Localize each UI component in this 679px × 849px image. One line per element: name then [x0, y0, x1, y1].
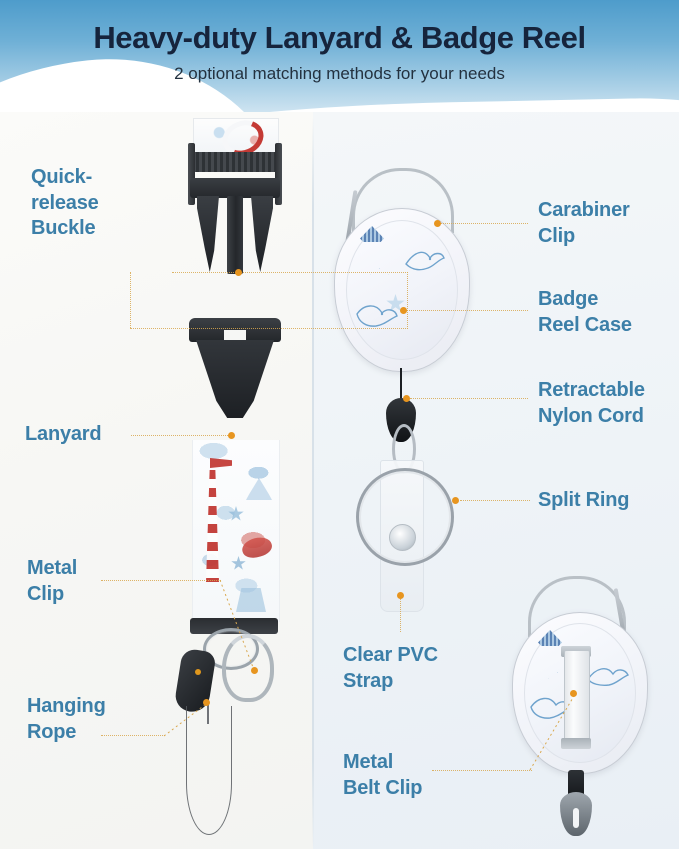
connector-carabiner-clip — [440, 223, 528, 224]
marker-dot-retractable-nylon-cord — [403, 395, 410, 402]
marker-dot-clear-pvc-strap — [397, 592, 404, 599]
label-quick-release-buckle: Quick- release Buckle — [31, 165, 99, 242]
seagull-pattern-icon-1 — [404, 246, 446, 276]
marker-dot-quick-release-buckle — [235, 269, 242, 276]
connector-clear-pvc-strap — [400, 596, 401, 632]
marker-dot-metal-belt-clip — [570, 690, 577, 697]
header-banner — [0, 0, 679, 118]
label-hanging-rope: Hanging Rope — [27, 694, 106, 745]
connector-quick-release-horizontal-top — [172, 272, 408, 273]
marker-dot-split-ring — [452, 497, 459, 504]
connector-split-ring — [460, 500, 530, 501]
connector-quick-release-horizontal-bottom — [130, 328, 408, 329]
marker-dot-hanging-rope — [203, 699, 210, 706]
label-lanyard: Lanyard — [25, 422, 101, 448]
pvc-strap-snap-button — [389, 524, 416, 551]
connector-lanyard — [131, 435, 228, 436]
page-subtitle: 2 optional matching methods for your nee… — [0, 64, 679, 84]
seagull-pattern-icon-back-1 — [586, 662, 630, 692]
connector-hanging-rope-diagonal — [162, 700, 212, 740]
connector-metal-belt-clip-horizontal — [432, 770, 532, 771]
label-badge-reel-case: Badge Reel Case — [538, 287, 632, 338]
label-split-ring: Split Ring — [538, 488, 629, 514]
connector-quick-release-vertical-right — [407, 272, 408, 329]
badge-reel-back-clip-slot — [573, 808, 579, 828]
buckle-center-stem — [227, 196, 243, 274]
connector-hanging-rope-horizontal — [101, 735, 165, 736]
label-metal-clip: Metal Clip — [27, 556, 77, 607]
label-clear-pvc-strap: Clear PVC Strap — [343, 643, 438, 694]
connector-metal-clip-horizontal — [101, 580, 221, 581]
label-carabiner-clip: Carabiner Clip — [538, 198, 630, 249]
marker-dot-lanyard — [228, 432, 235, 439]
buckle-body — [190, 178, 280, 198]
split-ring — [356, 468, 454, 566]
connector-badge-reel-case — [406, 310, 528, 311]
buckle-webbing-slot — [190, 152, 280, 172]
retractable-nylon-cord — [400, 368, 402, 402]
label-retractable-nylon-cord: Retractable Nylon Cord — [538, 378, 645, 429]
marker-dot-carabiner-clip — [434, 220, 441, 227]
connector-retractable-nylon-cord — [410, 398, 528, 399]
label-metal-belt-clip: Metal Belt Clip — [343, 750, 422, 801]
metal-clip-pivot-dot — [195, 669, 201, 675]
product-infographic: Heavy-duty Lanyard & Badge Reel 2 option… — [0, 0, 679, 849]
page-title: Heavy-duty Lanyard & Badge Reel — [0, 20, 679, 56]
connector-metal-belt-clip-diagonal — [528, 692, 580, 774]
connector-metal-clip-diagonal — [218, 578, 258, 674]
panel-divider — [312, 118, 314, 849]
connector-quick-release-vertical-left — [130, 272, 131, 328]
marker-dot-badge-reel-case — [400, 307, 407, 314]
marker-dot-metal-clip — [251, 667, 258, 674]
